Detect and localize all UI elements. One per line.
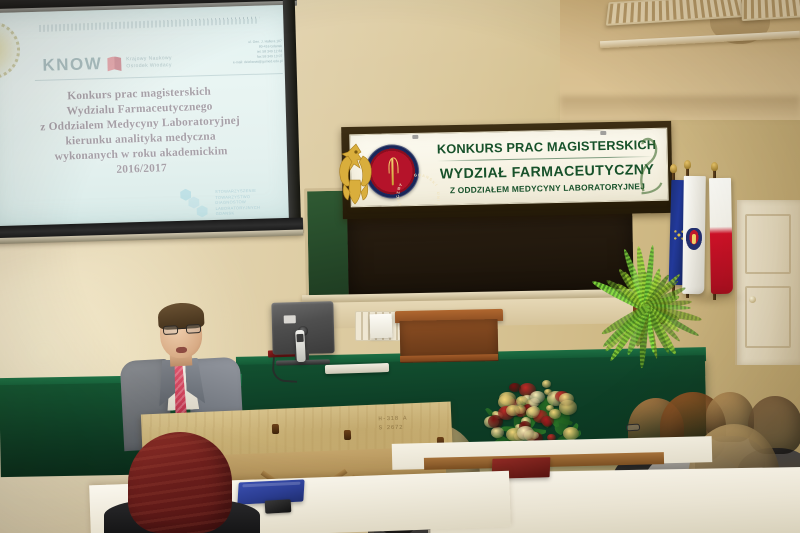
banner-rule bbox=[437, 156, 653, 162]
know-logo-text: KNOW bbox=[42, 54, 102, 76]
presentation-slide: KNOW Krajowy Naukowy Osrodek Wiodacy ul.… bbox=[0, 7, 295, 226]
presenter-mouth bbox=[176, 347, 187, 354]
lecture-hall-photo: KNOW Krajowy Naukowy Osrodek Wiodacy ul.… bbox=[0, 0, 800, 533]
university-seal-icon bbox=[0, 20, 21, 80]
banner-clip bbox=[600, 131, 606, 135]
slide-watermark-text: STOWARZYSZENIE TOWARZYSTWO DIAGNOSTOW LA… bbox=[215, 188, 260, 217]
audience-red-hair-woman bbox=[128, 432, 232, 533]
university-flag-emblem-icon bbox=[686, 228, 702, 250]
bench-graffiti-text: H-318 A S 2672 bbox=[379, 414, 408, 433]
door-panel bbox=[745, 214, 791, 274]
projection-screen: KNOW Krajowy Naukowy Osrodek Wiodacy ul.… bbox=[0, 0, 303, 246]
glasses-bridge bbox=[178, 328, 186, 330]
bouquet-cream-flower bbox=[559, 393, 574, 405]
slide-watermark-logo: STOWARZYSZENIE TOWARZYSTWO DIAGNOSTOW LA… bbox=[180, 184, 261, 218]
bouquet-cream-flower bbox=[526, 407, 539, 418]
bouquet-cream-flower bbox=[530, 391, 545, 404]
hexagon-icon bbox=[196, 205, 207, 217]
bouquet-cream-flower bbox=[542, 380, 551, 388]
event-banner: GDANSKI UNIWERSYTET MEDYCZNY KONKURS PRA… bbox=[349, 128, 668, 208]
slide-title-text: Konkurs prac magisterskich Wydzialu Farm… bbox=[0, 82, 294, 182]
monitor-sticker bbox=[284, 315, 296, 323]
know-logo-subtitle: Krajowy Naukowy Osrodek Wiodacy bbox=[126, 55, 186, 71]
banner-title-line2: WYDZIAŁ FARMACEUTYCZNY bbox=[435, 162, 659, 183]
ceiling-vent bbox=[742, 0, 800, 21]
door-knob[interactable] bbox=[749, 296, 756, 303]
glasses-icon bbox=[626, 424, 640, 432]
boston-fern bbox=[588, 256, 718, 381]
flag-finial-icon bbox=[670, 164, 677, 173]
bouquet-red-flower bbox=[509, 383, 520, 392]
side-door[interactable] bbox=[735, 200, 800, 365]
flag-finial-icon bbox=[711, 162, 718, 171]
banner-clip bbox=[412, 135, 418, 139]
bouquet-cream-flower bbox=[549, 409, 560, 418]
ceiling-shadow bbox=[560, 96, 800, 122]
slide-address-block: ul. Gen. J. Hallera 107 80-416 Gdansk te… bbox=[232, 39, 282, 65]
microphone bbox=[295, 330, 306, 362]
asclepius-staff-icon bbox=[387, 156, 397, 186]
glasses-lens-right bbox=[186, 324, 201, 334]
paper-stack bbox=[370, 314, 393, 339]
banner-title-line3: Z ODDZIAŁEM MEDYCYNY LABORATORYJNEJ bbox=[435, 181, 659, 196]
mobile-phone bbox=[265, 499, 292, 513]
banner-title-line1: KONKURS PRAC MAGISTERSKICH bbox=[434, 137, 658, 157]
polish-eagle-emblem bbox=[336, 140, 376, 206]
bouquet-cream-flower bbox=[491, 427, 504, 437]
snake-bowl-icon bbox=[636, 135, 663, 198]
know-logo: KNOW Krajowy Naukowy Osrodek Wiodacy bbox=[42, 52, 186, 76]
bench-knob bbox=[272, 424, 279, 434]
glasses-lens-left bbox=[163, 325, 178, 335]
flag-finial-icon bbox=[684, 160, 691, 169]
book-icon bbox=[107, 56, 121, 71]
bouquet-cream-flower bbox=[517, 426, 534, 440]
bouquet-cream-flower bbox=[516, 396, 528, 406]
slide-header-rule bbox=[39, 17, 259, 32]
bench-knob bbox=[344, 430, 351, 440]
bouquet-cream-flower bbox=[506, 405, 519, 416]
